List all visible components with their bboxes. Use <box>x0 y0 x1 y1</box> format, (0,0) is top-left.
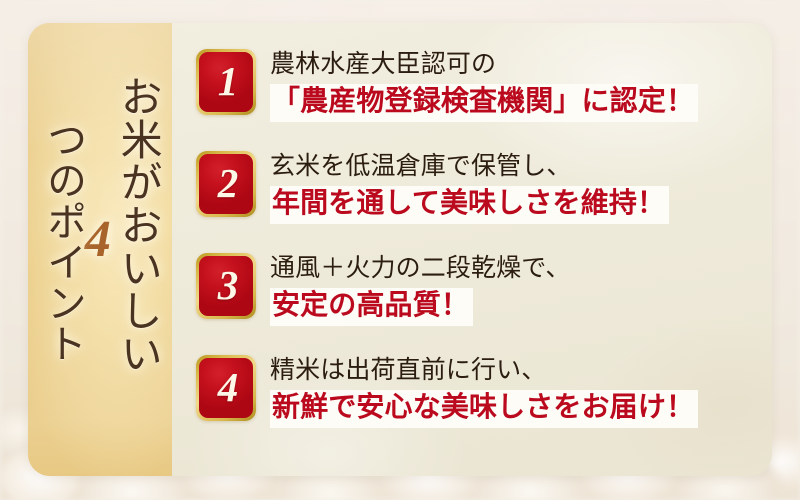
point-number-badge: 1 <box>196 49 256 115</box>
point-number-badge-face: 4 <box>199 358 253 418</box>
point-item: 2 玄米を低温倉庫で保管し、 年間を通して美味しさを維持！ <box>196 151 758 239</box>
point-line-highlight: 安定の高品質！ <box>270 288 473 326</box>
point-number-label: 3 <box>218 265 239 306</box>
point-text-block: 通風＋火力の二段乾燥で、 安定の高品質！ <box>270 253 571 326</box>
vertical-title-line-1: お米がおいしい <box>114 75 159 375</box>
banner-stage: お米がおいしい 4 つのポイント 1 農林水産大臣認可の 「農産物登録検査機関」… <box>0 0 800 500</box>
point-number-badge: 4 <box>196 355 256 421</box>
point-number-badge-face: 3 <box>199 256 253 316</box>
point-number-badge: 2 <box>196 151 256 217</box>
point-number-label: 4 <box>218 367 239 408</box>
point-number-badge-face: 2 <box>199 154 253 214</box>
vertical-title-number: 4 <box>85 216 112 264</box>
point-text-block: 精米は出荷直前に行い、 新鮮で安心な美味しさをお届け！ <box>270 355 698 428</box>
point-text-block: 玄米を低温倉庫で保管し、 年間を通して美味しさを維持！ <box>270 151 669 224</box>
point-line-primary: 通風＋火力の二段乾燥で、 <box>270 254 571 285</box>
point-item: 4 精米は出荷直前に行い、 新鮮で安心な美味しさをお届け！ <box>196 355 758 443</box>
point-number-badge: 3 <box>196 253 256 319</box>
points-list: 1 農林水産大臣認可の 「農産物登録検査機関」に認定！ 2 玄米を低温倉庫で保管… <box>172 23 772 476</box>
point-number-label: 1 <box>218 61 239 102</box>
vertical-title: お米がおいしい 4 つのポイント <box>28 23 172 476</box>
point-line-primary: 精米は出荷直前に行い、 <box>270 356 698 387</box>
point-text-block: 農林水産大臣認可の 「農産物登録検査機関」に認定！ <box>270 49 698 122</box>
point-number-label: 2 <box>218 163 239 204</box>
point-line-primary: 玄米を低温倉庫で保管し、 <box>270 152 669 183</box>
content-card: お米がおいしい 4 つのポイント 1 農林水産大臣認可の 「農産物登録検査機関」… <box>28 23 772 476</box>
point-line-highlight: 新鮮で安心な美味しさをお届け！ <box>270 390 698 428</box>
point-item: 1 農林水産大臣認可の 「農産物登録検査機関」に認定！ <box>196 49 758 137</box>
point-number-badge-face: 1 <box>199 52 253 112</box>
vertical-title-line-2: 4 つのポイント <box>41 119 112 364</box>
point-line-primary: 農林水産大臣認可の <box>270 50 698 81</box>
point-line-highlight: 年間を通して美味しさを維持！ <box>270 186 669 224</box>
point-line-highlight: 「農産物登録検査機関」に認定！ <box>270 84 698 122</box>
point-item: 3 通風＋火力の二段乾燥で、 安定の高品質！ <box>196 253 758 341</box>
vertical-title-number-suffix: つのポイント <box>41 119 85 364</box>
